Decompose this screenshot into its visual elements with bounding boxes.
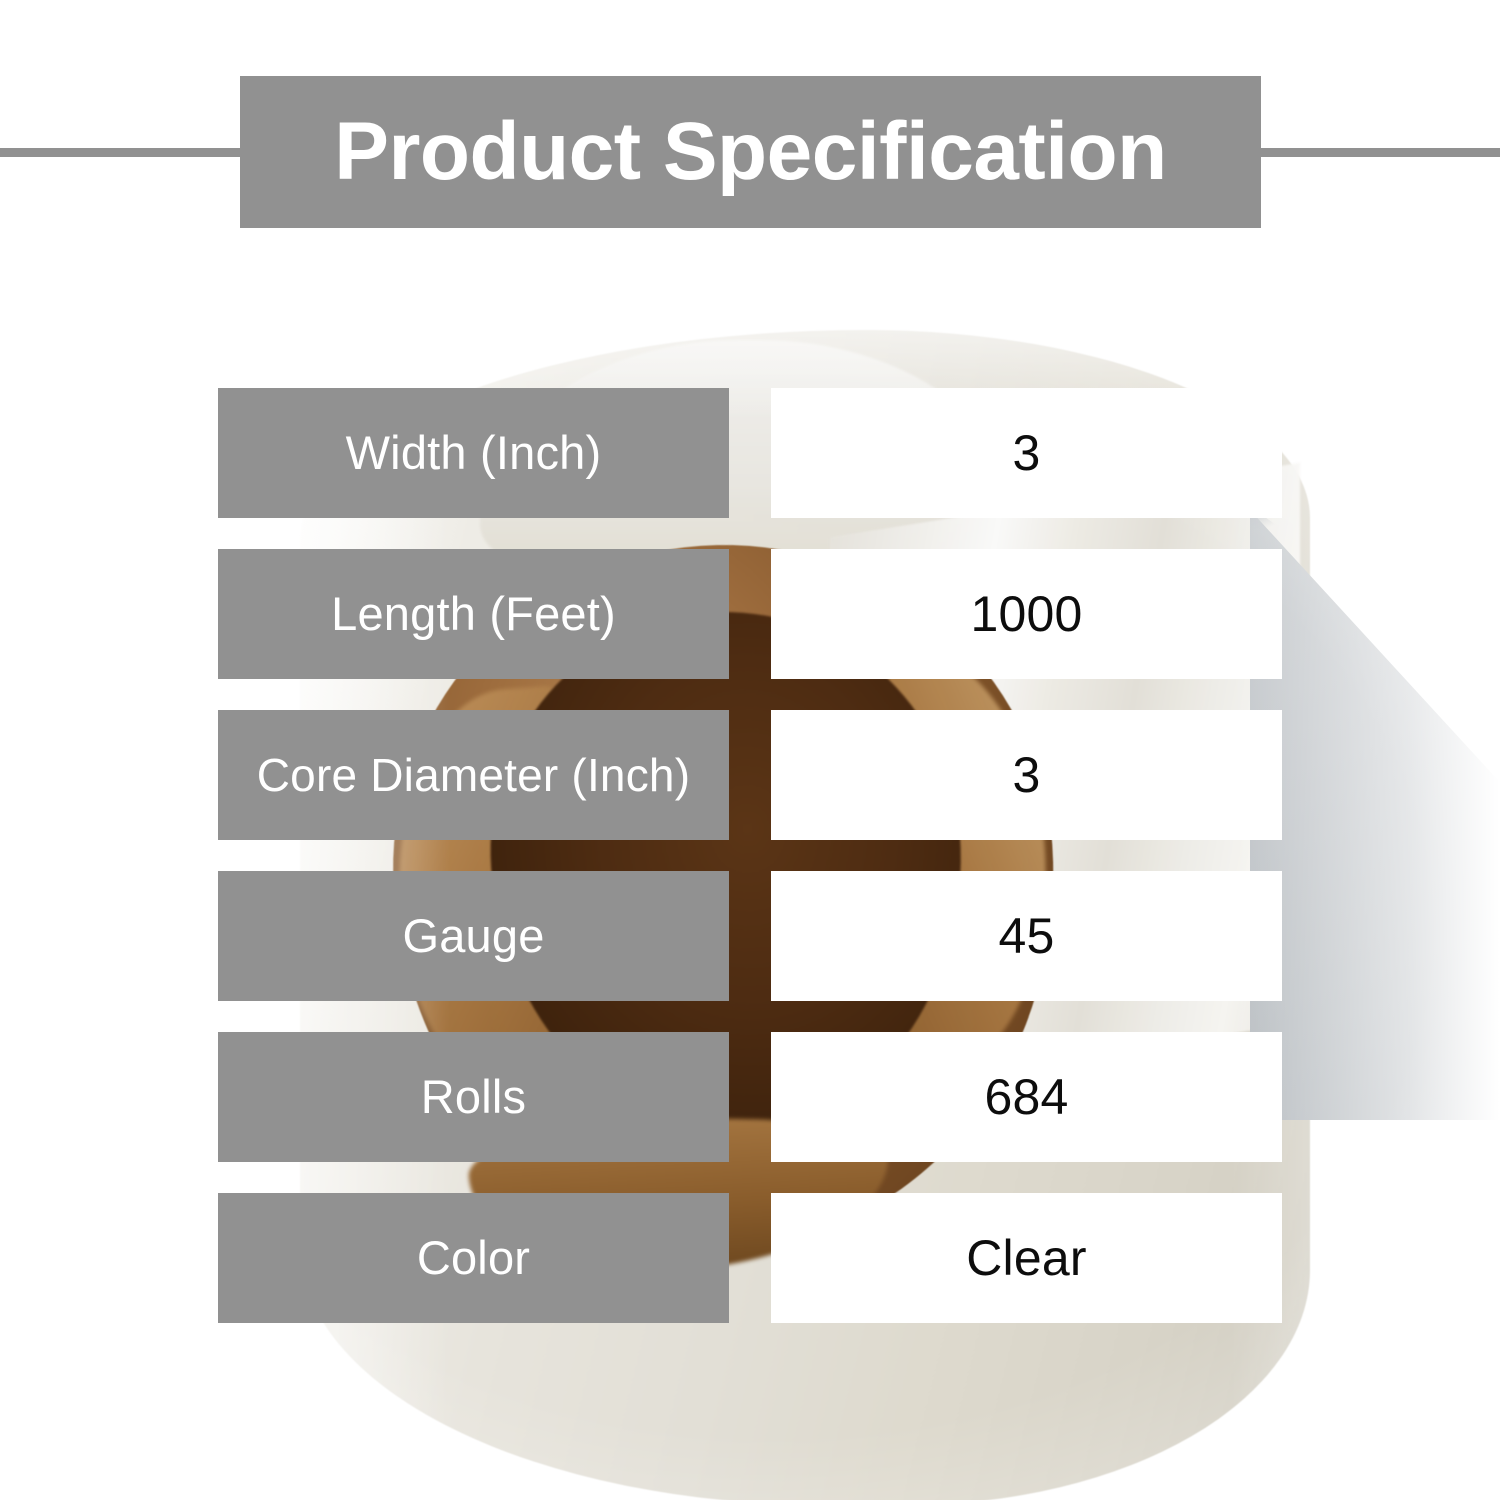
spec-value-cell: 45 bbox=[771, 871, 1282, 1001]
spec-value-cell: 1000 bbox=[771, 549, 1282, 679]
spec-value-cell: 3 bbox=[771, 710, 1282, 840]
spec-label-text: Width (Inch) bbox=[346, 428, 602, 478]
spec-value-cell: Clear bbox=[771, 1193, 1282, 1323]
spec-label-cell: Width (Inch) bbox=[218, 388, 729, 518]
spec-value-text: 3 bbox=[1012, 428, 1040, 478]
spec-label-text: Length (Feet) bbox=[331, 589, 616, 639]
specification-table: Width (Inch)3Length (Feet)1000Core Diame… bbox=[0, 0, 1500, 1500]
table-row: ColorClear bbox=[0, 1193, 1500, 1323]
spec-value-text: 1000 bbox=[970, 589, 1082, 639]
spec-label-text: Rolls bbox=[421, 1072, 526, 1122]
spec-value-text: 45 bbox=[998, 911, 1054, 961]
spec-value-text: 684 bbox=[984, 1072, 1068, 1122]
spec-value-cell: 684 bbox=[771, 1032, 1282, 1162]
table-row: Rolls684 bbox=[0, 1032, 1500, 1162]
spec-label-cell: Rolls bbox=[218, 1032, 729, 1162]
product-specification-page: Product Specification Width (Inch)3Lengt… bbox=[0, 0, 1500, 1500]
spec-label-cell: Length (Feet) bbox=[218, 549, 729, 679]
spec-label-cell: Gauge bbox=[218, 871, 729, 1001]
spec-label-cell: Core Diameter (Inch) bbox=[218, 710, 729, 840]
spec-label-text: Gauge bbox=[402, 911, 544, 961]
table-row: Core Diameter (Inch)3 bbox=[0, 710, 1500, 840]
spec-value-cell: 3 bbox=[771, 388, 1282, 518]
spec-value-text: 3 bbox=[1012, 750, 1040, 800]
spec-label-text: Core Diameter (Inch) bbox=[257, 752, 690, 799]
spec-label-cell: Color bbox=[218, 1193, 729, 1323]
spec-value-text: Clear bbox=[966, 1233, 1086, 1283]
table-row: Width (Inch)3 bbox=[0, 388, 1500, 518]
spec-label-text: Color bbox=[417, 1233, 530, 1283]
table-row: Length (Feet)1000 bbox=[0, 549, 1500, 679]
table-row: Gauge45 bbox=[0, 871, 1500, 1001]
